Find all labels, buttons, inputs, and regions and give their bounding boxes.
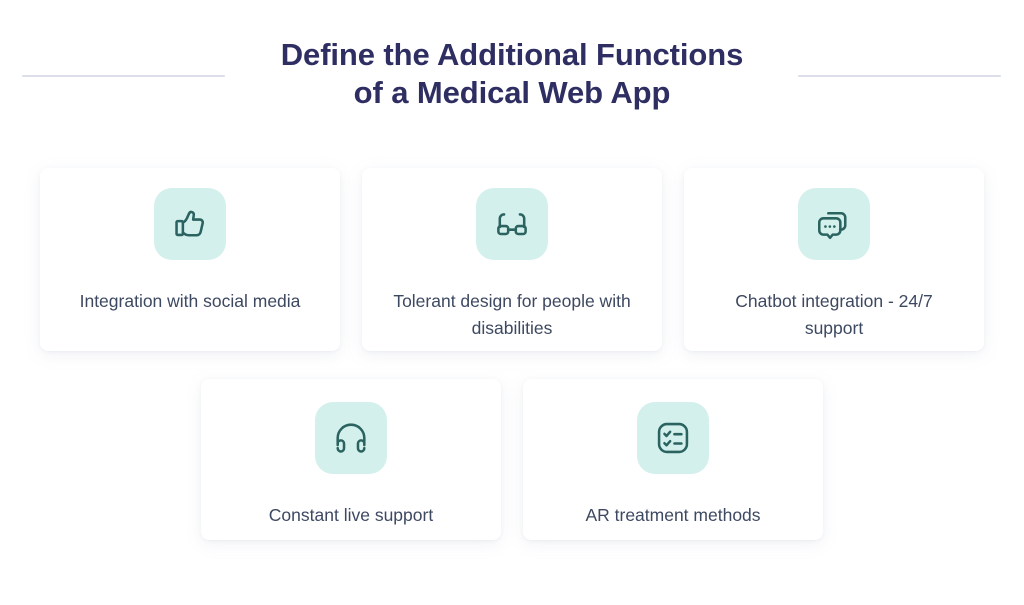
feature-card-label: Integration with social media <box>64 288 316 315</box>
page-header: Define the Additional Functions of a Med… <box>0 0 1024 150</box>
eyeglasses-icon <box>476 188 548 260</box>
checklist-icon <box>637 402 709 474</box>
feature-card-integration-social-media[interactable]: Integration with social media <box>40 168 340 351</box>
page-title: Define the Additional Functions of a Med… <box>0 36 1024 112</box>
feature-card-label: Constant live support <box>225 502 477 529</box>
feature-card-ar-treatment-methods[interactable]: AR treatment methods <box>523 379 823 540</box>
feature-card-constant-live-support[interactable]: Constant live support <box>201 379 501 540</box>
headphones-icon <box>315 402 387 474</box>
feature-card-tolerant-design[interactable]: Tolerant design for people with disabili… <box>362 168 662 351</box>
thumbs-up-icon <box>154 188 226 260</box>
chat-bubbles-icon <box>798 188 870 260</box>
feature-card-label: AR treatment methods <box>547 502 799 529</box>
feature-card-label: Chatbot integration - 24/7 support <box>708 288 960 342</box>
feature-card-chatbot-integration[interactable]: Chatbot integration - 24/7 support <box>684 168 984 351</box>
feature-card-label: Tolerant design for people with disabili… <box>386 288 638 342</box>
